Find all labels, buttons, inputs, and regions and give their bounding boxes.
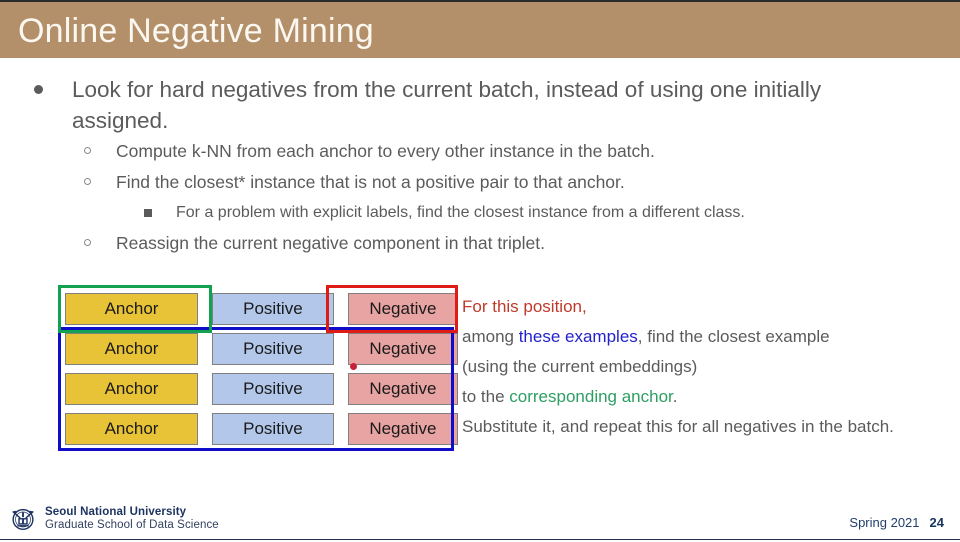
table-row: Anchor Positive Negative [58,373,458,405]
footer-branding-text: Seoul National University Graduate Schoo… [45,506,219,532]
bullet-circle-icon [84,147,91,154]
table-row: Anchor Positive Negative [58,413,458,445]
footer-branding: Seoul National University Graduate Schoo… [8,504,219,534]
explain-line-4: to the corresponding anchor. [462,382,952,412]
cell-anchor: Anchor [65,333,198,365]
explain-text: (using the current embeddings) [462,357,697,376]
footer-meta: Spring 202124 [849,515,944,530]
explanation-text: For this position, among these examples,… [462,292,952,442]
snu-logo-icon [8,504,38,534]
explain-text: to the [462,387,509,406]
bullet-square-icon [144,209,152,217]
explain-line-5: Substitute it, and repeat this for all n… [462,412,952,442]
explain-text: Substitute it, and repeat this for all n… [462,417,894,436]
bullet-disc-icon [34,85,43,94]
cell-positive: Positive [212,333,334,365]
university-name: Seoul National University [45,506,219,519]
explain-text: . [673,387,678,406]
bullet-circle-icon [84,239,91,246]
explain-text: , find the closest example [638,327,830,346]
page-number: 24 [930,515,944,530]
explain-emphasis-red: For this position, [462,297,587,316]
cell-anchor: Anchor [65,293,198,325]
cell-negative: Negative [348,293,458,325]
term-label: Spring 2021 [849,515,919,530]
cell-positive: Positive [212,373,334,405]
bullet-text: Find the closest* instance that is not a… [116,172,625,192]
cell-negative: Negative [348,413,458,445]
selected-negative-dot-icon [350,363,357,370]
title-banner: Online Negative Mining [0,0,960,58]
cell-negative: Negative [348,373,458,405]
school-name: Graduate School of Data Science [45,519,219,532]
explain-emphasis-green: corresponding anchor [509,387,673,406]
slide: Online Negative Mining Look for hard neg… [0,0,960,542]
bullet-level3: For a problem with explicit labels, find… [140,198,940,228]
page-title: Online Negative Mining [18,8,374,54]
cell-positive: Positive [212,413,334,445]
table-row: Anchor Positive Negative [58,293,458,325]
cell-positive: Positive [212,293,334,325]
bullet-text: For a problem with explicit labels, find… [176,204,745,221]
footer-divider [0,539,960,541]
explain-line-3: (using the current embeddings) [462,352,952,382]
cell-anchor: Anchor [65,373,198,405]
bullet-text: Look for hard negatives from the current… [72,77,821,133]
cell-negative: Negative [348,333,458,365]
triplet-table: Anchor Positive Negative Anchor Positive… [58,285,458,455]
bullet-level2: Compute k-NN from each anchor to every o… [80,136,940,167]
bullet-text: Compute k-NN from each anchor to every o… [116,141,655,161]
bullet-level2: Find the closest* instance that is not a… [80,167,940,198]
bullet-circle-icon [84,178,91,185]
explain-line-1: For this position, [462,292,952,322]
cell-anchor: Anchor [65,413,198,445]
bullet-text: Reassign the current negative component … [116,233,545,253]
explain-emphasis-blue: these examples [519,327,638,346]
explain-line-2: among these examples, find the closest e… [462,322,952,352]
bullet-level2: Reassign the current negative component … [80,228,940,259]
explain-text: among [462,327,519,346]
table-row: Anchor Positive Negative [58,333,458,365]
bullet-list: Look for hard negatives from the current… [0,74,940,259]
bullet-level1: Look for hard negatives from the current… [32,74,922,136]
